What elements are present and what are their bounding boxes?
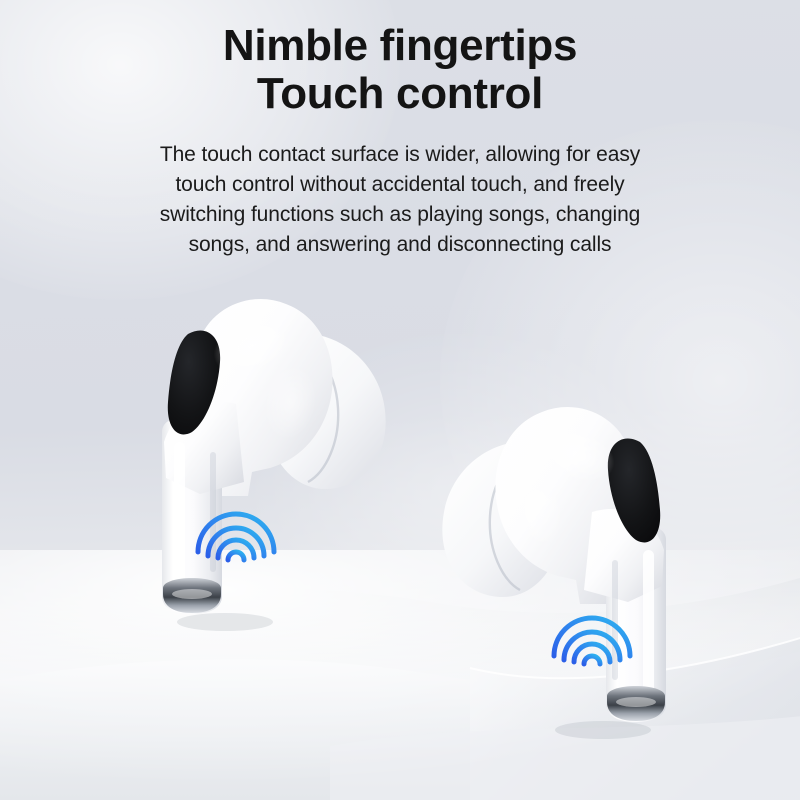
left-earbud-shadow	[177, 613, 273, 631]
headline-line-2: Touch control	[0, 70, 800, 118]
fingerprint-icon[interactable]	[192, 500, 280, 592]
right-stem-highlight	[643, 550, 654, 700]
right-contact-highlight	[616, 697, 656, 707]
left-stem-highlight	[174, 442, 185, 592]
description-line-4: songs, and answering and disconnecting c…	[100, 230, 700, 260]
description-line-3: switching functions such as playing song…	[100, 200, 700, 230]
headline-line-1: Nimble fingertips	[223, 21, 577, 70]
description-line-2: touch control without accidental touch, …	[100, 170, 700, 200]
fingerprint-icon[interactable]	[548, 604, 636, 696]
page-title: Nimble fingertips Touch control	[0, 22, 800, 118]
description-line-1: The touch contact surface is wider, allo…	[100, 140, 700, 170]
right-earbud-shadow	[555, 721, 651, 739]
product-feature-banner: Nimble fingertips Touch control The touc…	[0, 0, 800, 800]
description-text: The touch contact surface is wider, allo…	[100, 140, 700, 260]
marketing-copy: Nimble fingertips Touch control The touc…	[0, 22, 800, 260]
